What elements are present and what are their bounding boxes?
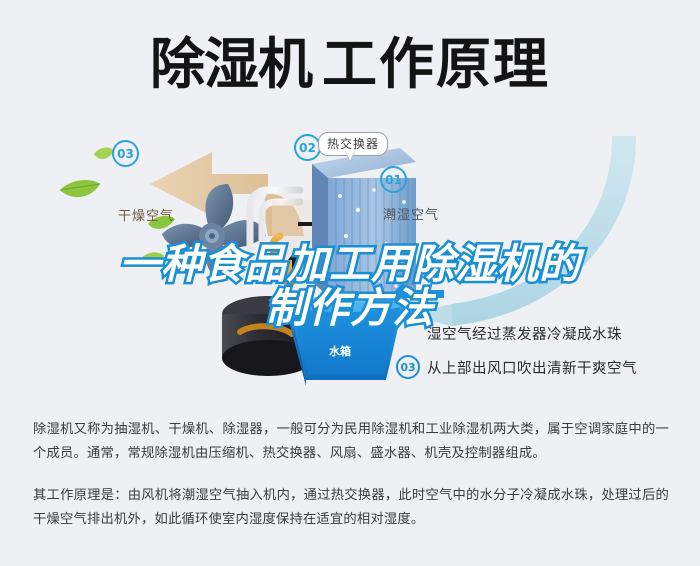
diagram-badge-03: 03 [112,140,139,167]
legend-item-01: 01 潮湿空气从下部进风口吸入 [396,282,696,316]
paragraph-1: 除湿机又称为抽湿机、干燥机、除湿器，一般可分为民用除湿机和工业除湿机两大类，属于… [33,418,669,466]
legend-badge-03: 03 [396,355,420,379]
diagram-badge-02: 02 [294,134,321,161]
legend-item-03: 03 从上部出风口吹出清新干爽空气 [396,350,696,384]
page-title: 除湿机工作原理 [150,37,550,92]
paragraph-2: 其工作原理是：由风机将潮湿空气抽入机内，通过热交换器，此时空气中的水分子冷凝成水… [33,484,669,532]
page-root: 除湿机工作原理 [0,0,700,566]
label-humid-air: 潮湿空气 [383,204,439,223]
diagram-legend: 01 潮湿空气从下部进风口吸入 02 湿空气经过蒸发器冷凝成水珠 03 从上部出… [396,282,696,384]
page-title-part1: 除湿机 [150,32,312,96]
legend-item-02: 02 湿空气经过蒸发器冷凝成水珠 [396,316,696,350]
page-title-part2: 工作原理 [322,32,550,96]
article-body: 除湿机又称为抽湿机、干燥机、除湿器，一般可分为民用除湿机和工业除湿机两大类，属于… [33,418,669,550]
label-dry-air: 干燥空气 [118,205,174,224]
callout-tail-icon [345,150,355,161]
legend-text-02: 湿空气经过蒸发器冷凝成水珠 [427,323,622,344]
label-water-tank: 水箱 [329,343,351,359]
legend-text-03: 从上部出风口吹出清新干爽空气 [427,357,637,378]
diagram-badge-01: 01 [380,166,407,193]
page-header: 除湿机工作原理 [0,20,700,108]
water-tank [286,296,404,386]
